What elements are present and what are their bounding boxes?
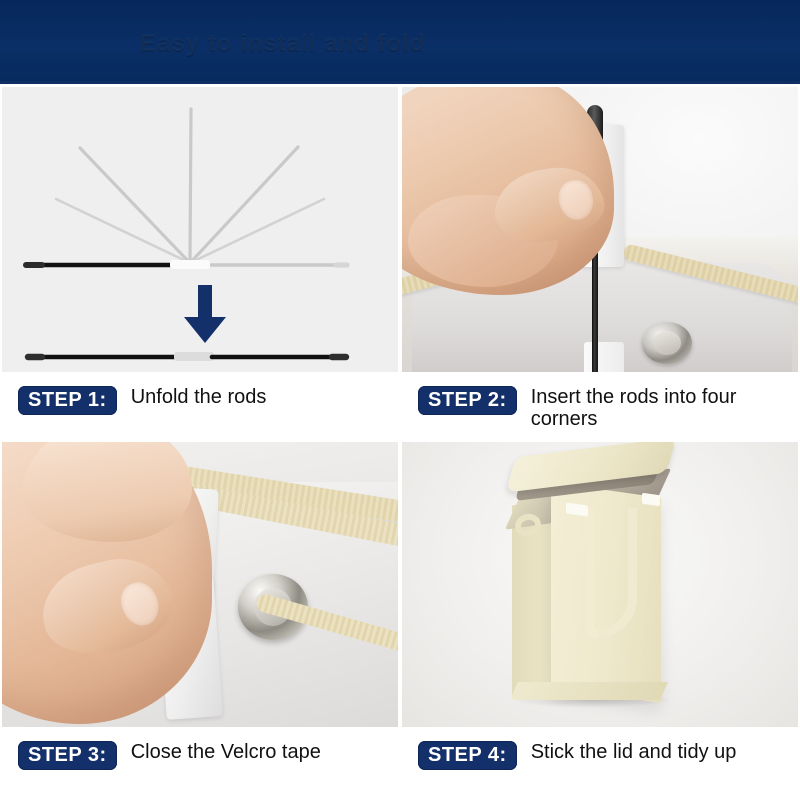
metal-grommet	[642, 322, 692, 364]
instruction-infographic: Easy to install and fold	[0, 0, 800, 800]
step-4-badge: STEP 4:	[418, 741, 517, 770]
step-1-image	[2, 87, 398, 372]
step-3-text: Close the Velcro tape	[131, 741, 381, 763]
step-4-caption: STEP 4: Stick the lid and tidy up	[402, 727, 798, 789]
step-card-4: STEP 4: Stick the lid and tidy up	[402, 442, 798, 794]
finished-hamper-photo	[402, 442, 798, 727]
velcro-strip-lower	[584, 342, 624, 372]
step-1-text: Unfold the rods	[131, 386, 381, 408]
top-banner: Easy to install and fold	[0, 0, 800, 84]
step-4-image	[402, 442, 798, 727]
step-2-text: Insert the rods into four corners	[531, 386, 786, 431]
step-1-badge: STEP 1:	[18, 386, 117, 415]
step-card-3: STEP 3: Close the Velcro tape	[2, 442, 398, 794]
rod-diagram-svg	[2, 87, 398, 372]
close-velcro-photo	[2, 442, 398, 727]
step-2-image	[402, 87, 798, 372]
assembled-rod-connector	[174, 352, 214, 361]
rod-connector-sleeve	[170, 260, 210, 269]
hamper-handle-left	[585, 508, 597, 638]
step-3-caption: STEP 3: Close the Velcro tape	[2, 727, 398, 789]
velcro-tab-right	[642, 493, 660, 507]
step-3-badge: STEP 3:	[18, 741, 117, 770]
hamper-base	[510, 682, 668, 700]
insert-rod-photo	[402, 87, 798, 372]
step-1-caption: STEP 1: Unfold the rods	[2, 372, 398, 434]
step-2-badge: STEP 2:	[418, 386, 517, 415]
step-card-1: STEP 1: Unfold the rods	[2, 87, 398, 439]
step-2-caption: STEP 2: Insert the rods into four corner…	[402, 372, 798, 434]
steps-grid: STEP 1: Unfold the rods	[0, 84, 800, 800]
banner-title: Easy to install and fold	[140, 30, 660, 58]
step-3-image	[2, 442, 398, 727]
rod-diagram	[2, 87, 398, 372]
index-finger	[22, 442, 192, 542]
step-4-text: Stick the lid and tidy up	[531, 741, 786, 763]
step-card-2: STEP 2: Insert the rods into four corner…	[402, 87, 798, 439]
